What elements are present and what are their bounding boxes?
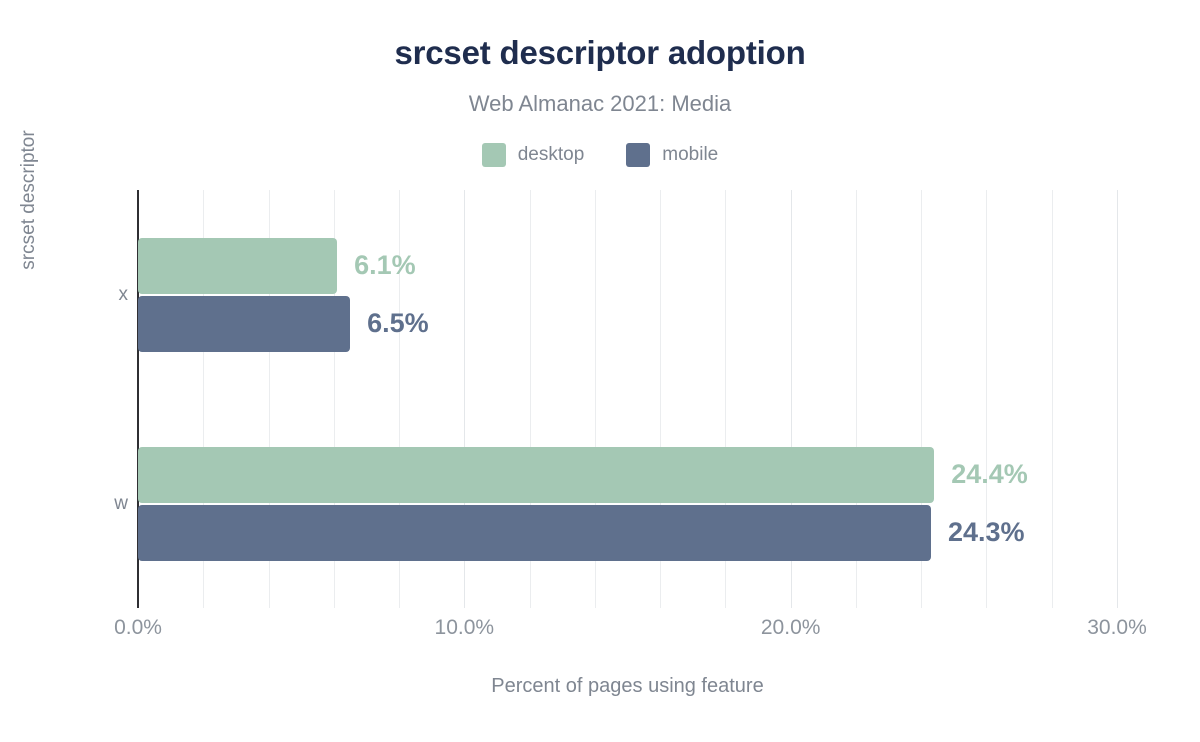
y-axis-title: srcset descriptor xyxy=(18,100,40,300)
chart-subtitle: Web Almanac 2021: Media xyxy=(0,90,1200,118)
bar-value-label-mobile-w: 24.3% xyxy=(948,505,1025,561)
legend-label-mobile: mobile xyxy=(662,143,718,167)
chart-legend: desktop mobile xyxy=(0,143,1200,167)
x-axis-title: Percent of pages using feature xyxy=(138,675,1117,698)
legend-swatch-mobile xyxy=(626,143,650,167)
legend-swatch-desktop xyxy=(482,143,506,167)
y-category-label-w: w xyxy=(114,493,128,515)
bar-mobile-x[interactable] xyxy=(138,296,350,352)
legend-item-mobile[interactable]: mobile xyxy=(626,143,718,167)
bar-mobile-w[interactable] xyxy=(138,505,931,561)
legend-item-desktop[interactable]: desktop xyxy=(482,143,585,167)
x-tick-label: 10.0% xyxy=(435,616,495,640)
bar-desktop-w[interactable] xyxy=(138,447,934,503)
x-tick-label: 0.0% xyxy=(114,616,162,640)
bar-value-label-mobile-x: 6.5% xyxy=(367,296,429,352)
gridline xyxy=(1117,190,1118,608)
chart-title: srcset descriptor adoption xyxy=(0,33,1200,73)
bar-value-label-desktop-x: 6.1% xyxy=(354,238,416,294)
legend-label-desktop: desktop xyxy=(518,143,585,167)
bar-desktop-x[interactable] xyxy=(138,238,337,294)
x-tick-label: 30.0% xyxy=(1087,616,1147,640)
y-category-label-x: x xyxy=(119,284,129,306)
bar-value-label-desktop-w: 24.4% xyxy=(951,447,1028,503)
plot-area: 6.1%6.5%24.4%24.3% xyxy=(138,190,1117,608)
gridline xyxy=(1052,190,1053,608)
x-tick-label: 20.0% xyxy=(761,616,821,640)
